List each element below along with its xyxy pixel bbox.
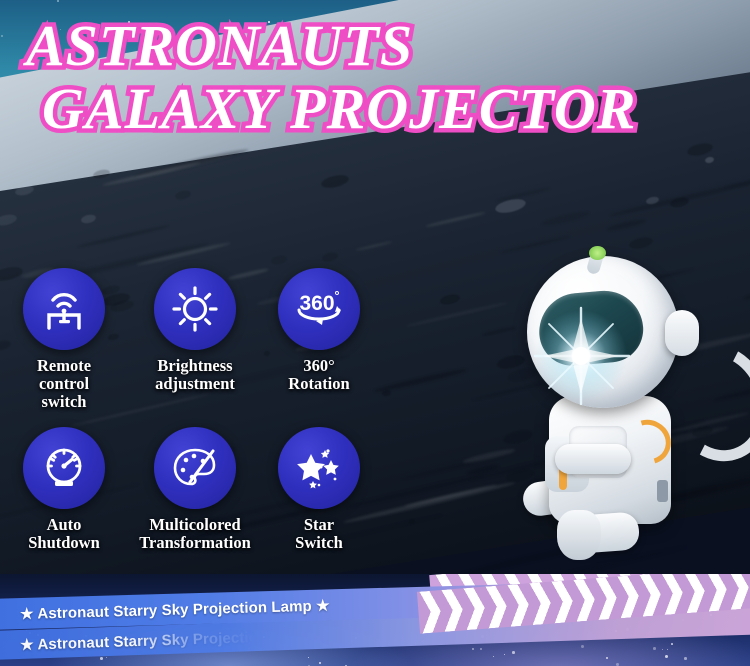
astronaut-arm	[555, 444, 631, 474]
feature-remote-control-switch[interactable]: Remote control switch	[0, 268, 128, 411]
feature-label: Remote control switch	[0, 357, 128, 411]
astronaut-projector-product	[497, 248, 743, 578]
feature-icon-badge	[154, 268, 236, 350]
feature-auto-shutdown[interactable]: Auto Shutdown	[0, 427, 128, 552]
title-line-1: ASTRONAUTS	[26, 18, 636, 74]
feature-label: Brightness adjustment	[131, 357, 259, 393]
antenna-green-light	[589, 246, 606, 260]
feature-360-rotation[interactable]: 360 ° 360° Rotation	[255, 268, 383, 393]
title-line-2: GALAXY PROJECTOR	[42, 81, 636, 137]
feature-list: Remote control switch Brightness adjustm…	[0, 258, 390, 568]
feature-label: 360° Rotation	[255, 357, 383, 393]
astronaut-ear-pod	[665, 310, 699, 356]
feature-brightness-adjustment[interactable]: Brightness adjustment	[131, 268, 259, 393]
astronaut-usb-port	[657, 480, 668, 502]
feature-label: Multicolored Transformation	[131, 516, 259, 552]
feature-label: Star Switch	[255, 516, 383, 552]
banner-secondary-text: ★ Astronaut Starry Sky Projection Lamp ★	[0, 625, 330, 654]
feature-multicolored-transformation[interactable]: Multicolored Transformation	[131, 427, 259, 552]
feature-icon-badge: 360 °	[278, 268, 360, 350]
page-title: ASTRONAUTS GALAXY PROJECTOR	[26, 18, 636, 136]
astronaut-boot	[557, 510, 601, 560]
banner-primary-text: ★ Astronaut Starry Sky Projection Lamp ★	[0, 596, 330, 624]
feature-label: Auto Shutdown	[0, 516, 128, 552]
svg-text:°: °	[334, 288, 339, 303]
feature-icon-badge	[23, 268, 105, 350]
feature-icon-badge	[278, 427, 360, 509]
product-banner-image: ASTRONAUTS GALAXY PROJECTOR Remot	[0, 0, 750, 666]
feature-star-switch[interactable]: Star Switch	[255, 427, 383, 552]
feature-icon-badge	[154, 427, 236, 509]
bottom-banner-area: ★ Astronaut Starry Sky Projection Lamp ★…	[0, 574, 750, 666]
feature-icon-badge	[23, 427, 105, 509]
